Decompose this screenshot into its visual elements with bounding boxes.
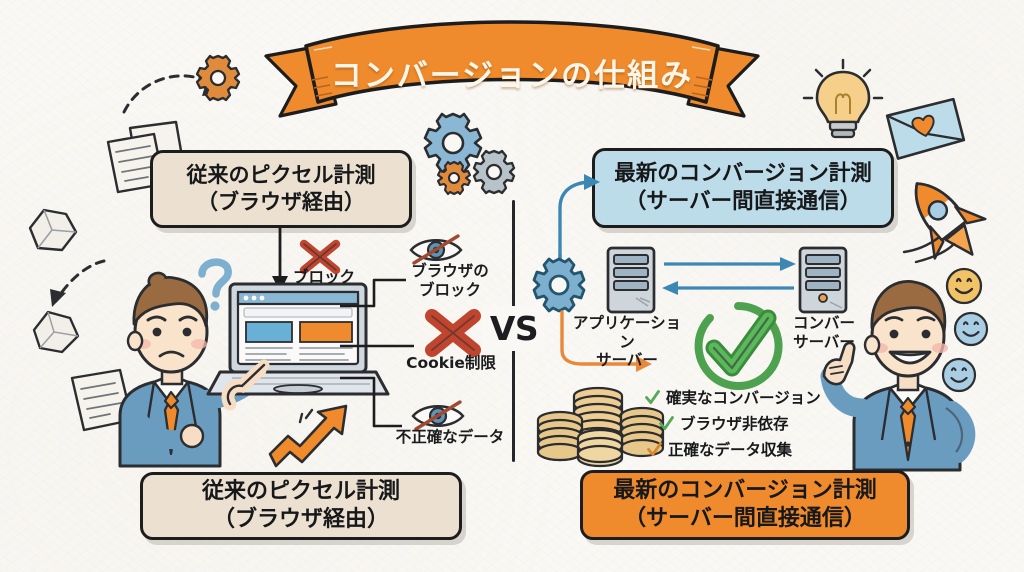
problem-browser-block-line2: ブロック: [419, 281, 481, 299]
problem-browser-block-line1: ブラウザの: [411, 262, 489, 280]
envelope-heart-icon: [884, 98, 966, 164]
eye-blocked-icon: [408, 398, 468, 432]
red-cross-icon: [418, 306, 488, 360]
banner-title: コンバージョンの仕組み: [262, 50, 762, 95]
thumbs-up-icon: [824, 343, 854, 384]
problem-cookie-label: Cookie制限: [392, 354, 510, 373]
gear-teal-icon: [528, 254, 590, 316]
benefit-label: 確実なコンバージョン: [666, 386, 821, 408]
blue-flow-arrow-icon: [662, 254, 802, 298]
happy-businessman: [828, 258, 988, 470]
gear-orange-icon: [434, 158, 474, 198]
app-server-line2: サーバー: [596, 351, 658, 369]
legacy-footer-line2: （ブラウザ経由）: [213, 506, 389, 534]
modern-footer-line1: 最新のコンバージョン計測: [613, 477, 877, 505]
app-server-line1: アプリケーション: [573, 314, 681, 351]
block-label: ブロック: [286, 268, 362, 287]
gear-orange-icon: [192, 52, 244, 104]
legacy-footer-line1: 従来のピクセル計測: [202, 478, 400, 506]
eye-blocked-icon: [406, 232, 466, 266]
benefit-item: ブラウザ非依存: [658, 410, 846, 436]
problem-inaccurate-data-label: 不正確なデータ: [386, 428, 514, 447]
check-icon: [644, 389, 661, 406]
legacy-method-footer-box: 従来のピクセル計測 （ブラウザ経由）: [140, 472, 462, 540]
modern-header-line1: 最新のコンバージョン計測: [614, 160, 872, 188]
infographic-canvas: コンバージョンの仕組み VS 従来のピクセル計測 （ブラウザ経由）: [0, 0, 1024, 572]
legacy-header-line2: （ブラウザ経由）: [197, 189, 365, 216]
modern-method-header-box: 最新のコンバージョン計測 （サーバー間直接通信）: [592, 148, 894, 228]
problem-browser-block-label: ブラウザの ブロック: [398, 262, 502, 299]
benefit-label: 正確なデータ収集: [668, 438, 792, 460]
benefit-item: 正確なデータ収集: [646, 436, 846, 462]
gear-gray-icon: [468, 146, 520, 198]
title-banner: コンバージョンの仕組み: [262, 20, 762, 128]
check-icon: [658, 415, 675, 432]
benefits-list: 確実なコンバージョン ブラウザ非依存 正確なデータ収集: [636, 384, 846, 462]
green-check-icon: [692, 300, 784, 392]
benefit-label: ブラウザ非依存: [680, 412, 789, 434]
modern-header-line2: （サーバー間直接通信）: [625, 188, 861, 216]
legacy-method-header-box: 従来のピクセル計測 （ブラウザ経由）: [150, 150, 412, 228]
check-icon: [646, 441, 663, 458]
legacy-header-line1: 従来のピクセル計測: [187, 162, 376, 189]
benefit-item: 確実なコンバージョン: [644, 384, 846, 410]
lightbulb-icon: [804, 62, 882, 152]
server-tower-icon: [604, 246, 660, 316]
modern-footer-line2: （サーバー間直接通信）: [624, 505, 866, 533]
modern-method-footer-box: 最新のコンバージョン計測 （サーバー間直接通信）: [580, 470, 910, 540]
app-server-label: アプリケーション サーバー: [568, 314, 686, 370]
